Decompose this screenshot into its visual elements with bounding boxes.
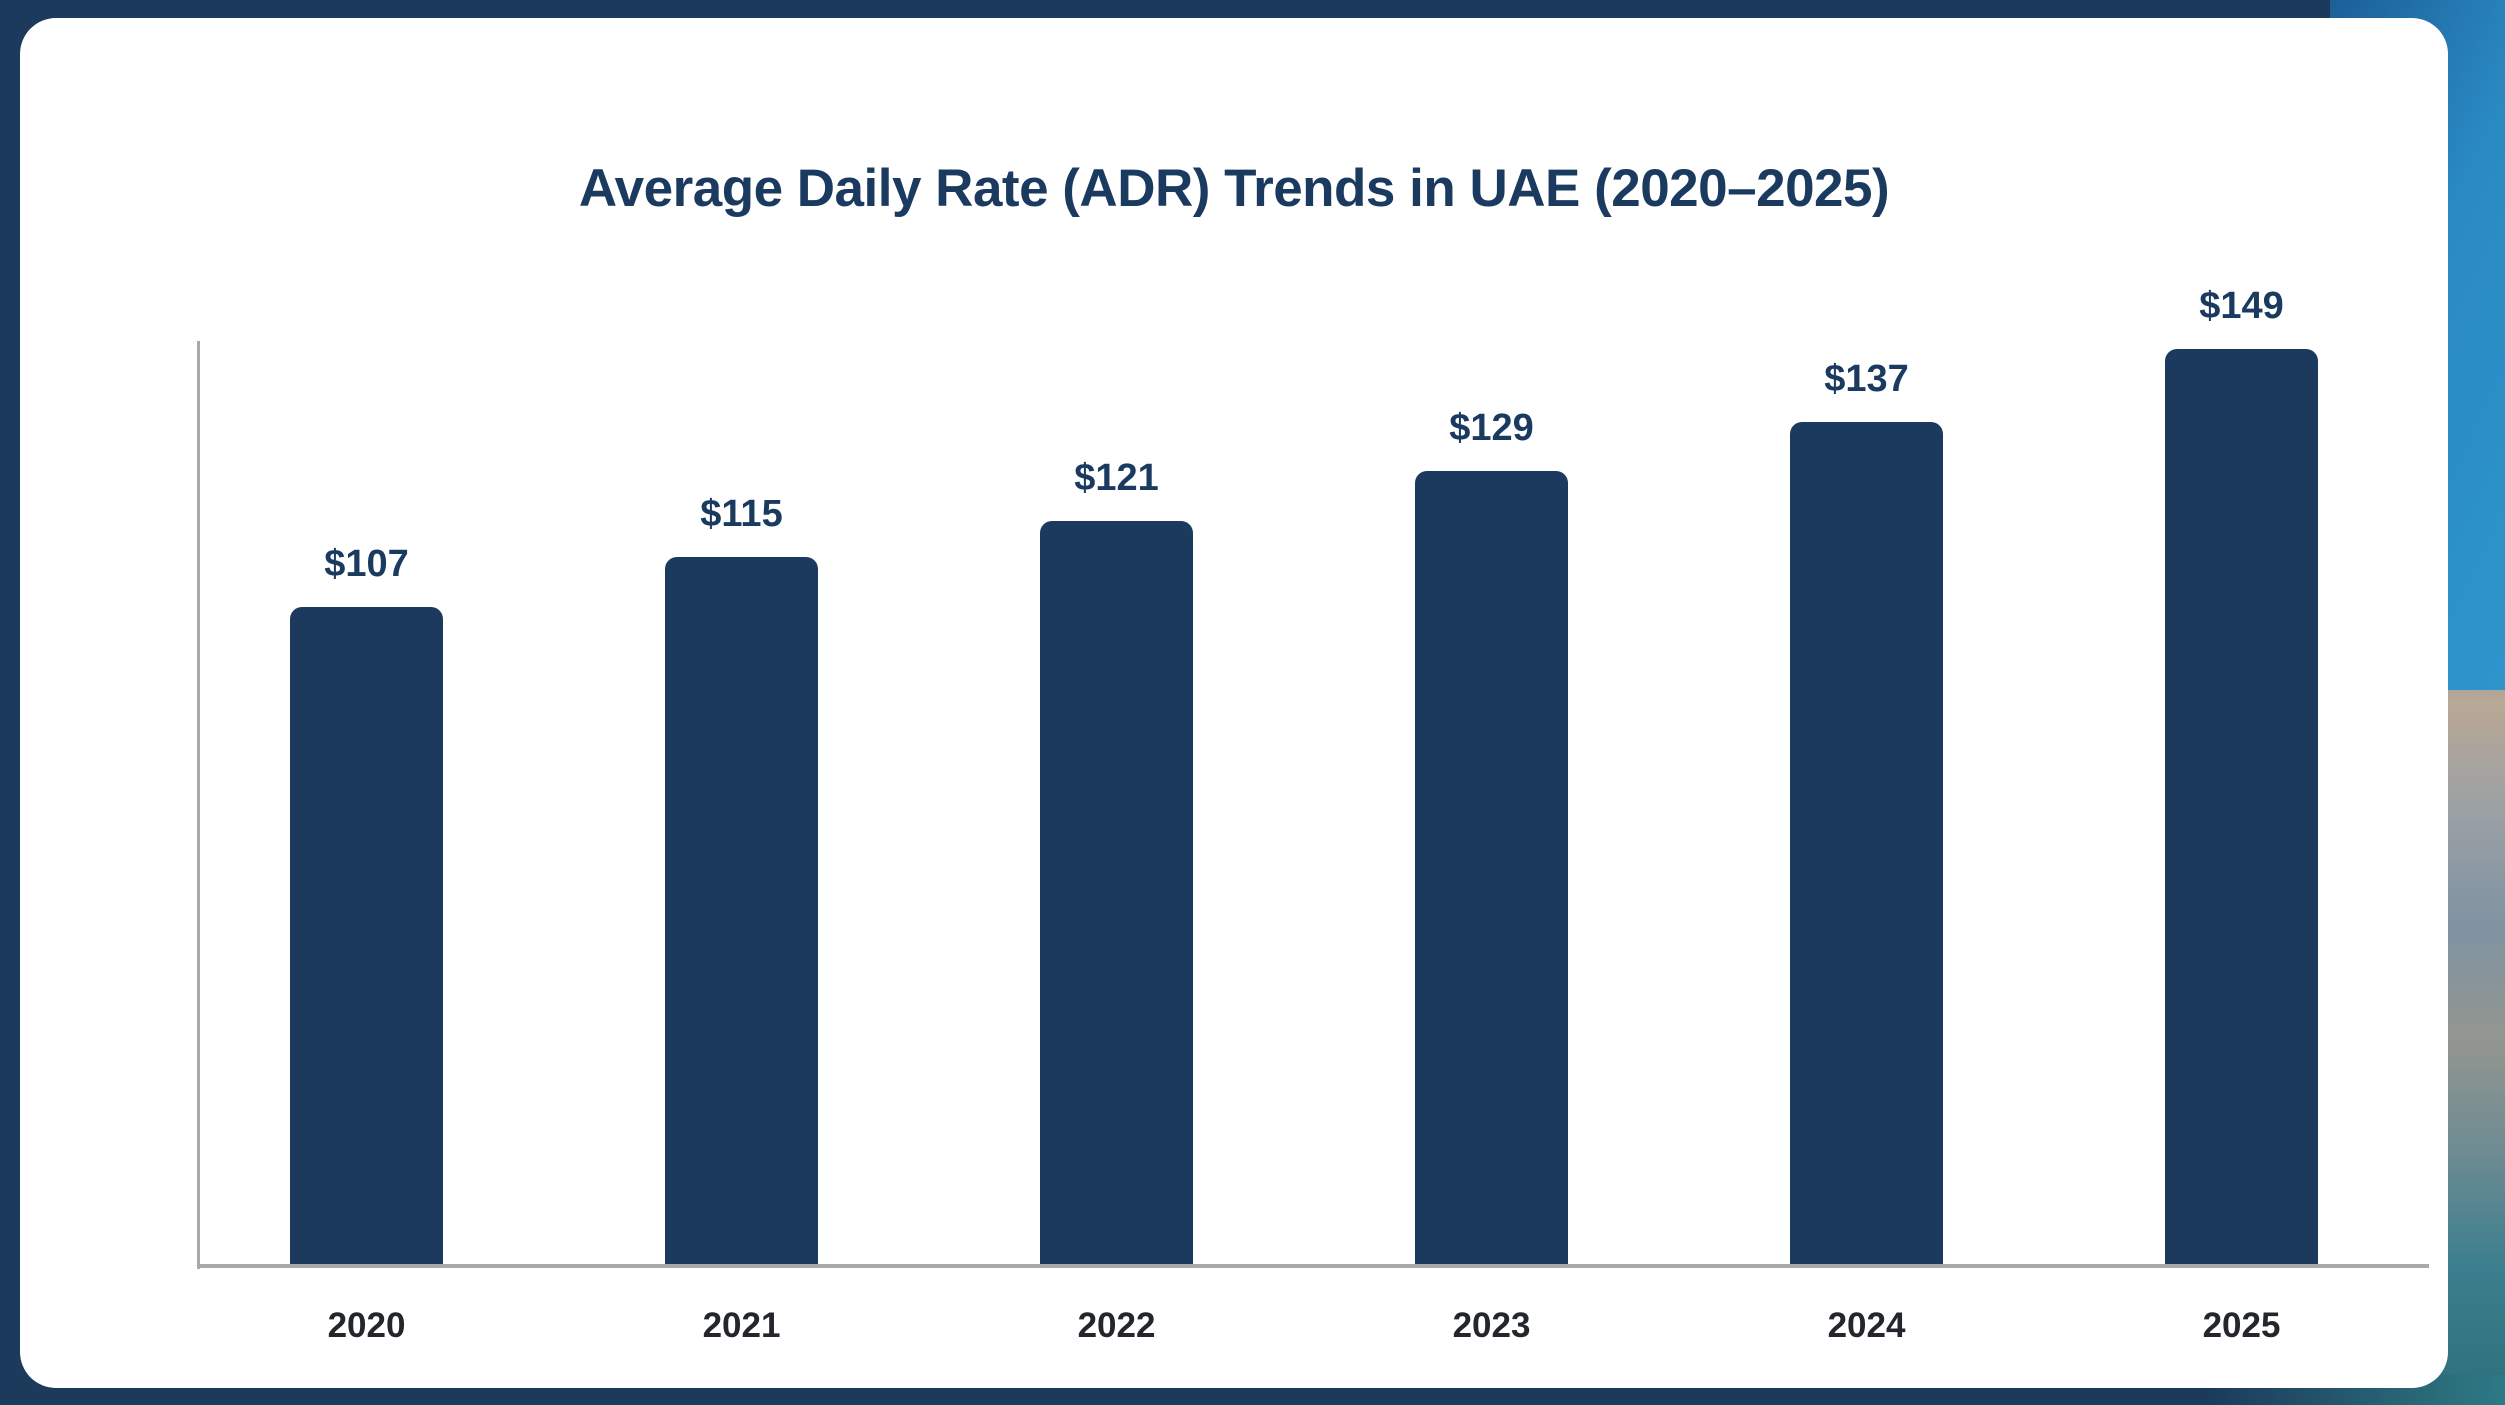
bar-value-label-2021: $115 bbox=[625, 493, 858, 536]
bar-2024[interactable] bbox=[1790, 422, 1943, 1264]
bar-2025[interactable] bbox=[2165, 349, 2318, 1264]
bar-value-label-2023: $129 bbox=[1375, 407, 1608, 450]
bar-chart-plot-area: $107$115$121$129$137$149 202020212022202… bbox=[20, 18, 2448, 1388]
x-axis-line bbox=[197, 1264, 2429, 1268]
x-tick-2025: 2025 bbox=[2105, 1306, 2378, 1346]
x-tick-2024: 2024 bbox=[1730, 1306, 2003, 1346]
chart-card: Average Daily Rate (ADR) Trends in UAE (… bbox=[20, 18, 2448, 1388]
bar-2021[interactable] bbox=[665, 557, 818, 1264]
x-tick-2022: 2022 bbox=[980, 1306, 1253, 1346]
bar-value-label-2024: $137 bbox=[1750, 358, 1983, 401]
bar-value-label-2022: $121 bbox=[1000, 457, 1233, 500]
bar-value-label-2025: $149 bbox=[2125, 285, 2358, 328]
bar-2020[interactable] bbox=[290, 607, 443, 1264]
bar-2023[interactable] bbox=[1415, 471, 1568, 1264]
y-axis-line bbox=[197, 341, 200, 1269]
x-tick-2020: 2020 bbox=[230, 1306, 503, 1346]
bar-2022[interactable] bbox=[1040, 521, 1193, 1264]
x-tick-2021: 2021 bbox=[605, 1306, 878, 1346]
bar-value-label-2020: $107 bbox=[250, 543, 483, 586]
x-tick-2023: 2023 bbox=[1355, 1306, 1628, 1346]
